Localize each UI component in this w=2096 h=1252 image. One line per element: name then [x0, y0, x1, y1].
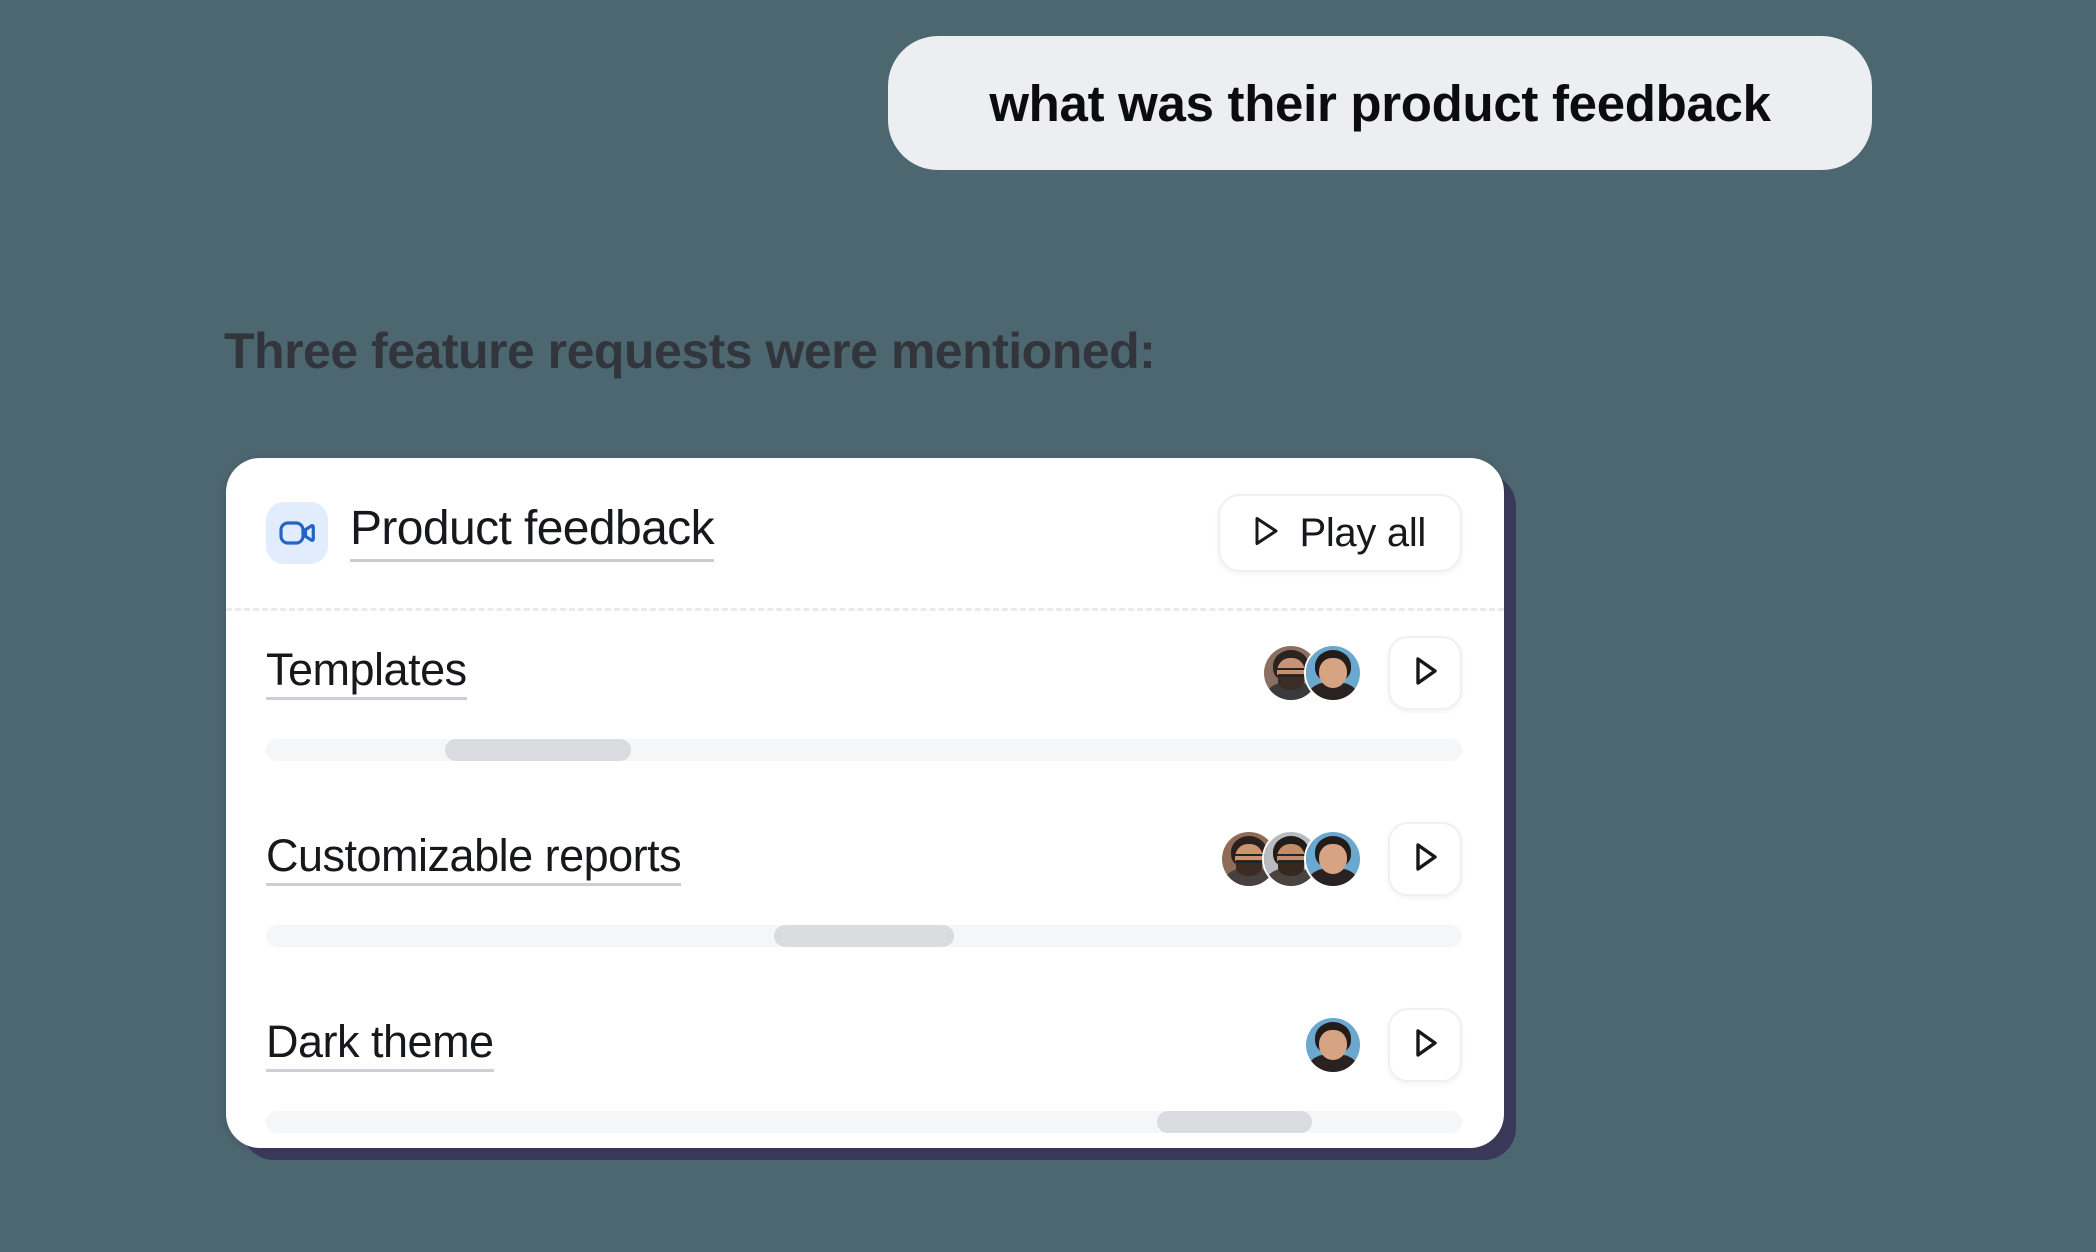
clip-timeline-segment[interactable]: [774, 925, 953, 947]
video-camera-icon: [266, 502, 328, 564]
clip-timeline-track[interactable]: [266, 925, 1462, 947]
row-play-button[interactable]: [1388, 822, 1462, 896]
feature-rows-list: TemplatesCustomizable reportsDark theme: [226, 611, 1504, 1148]
user-message-bubble: what was their product feedback: [888, 36, 1872, 170]
clip-timeline-track[interactable]: [266, 1111, 1462, 1133]
avatar-group: [1304, 1016, 1362, 1074]
feature-row: Templates: [226, 611, 1504, 797]
play-triangle-icon: [1410, 1027, 1440, 1064]
row-spacer: [266, 761, 1462, 797]
row-spacer: [266, 947, 1462, 983]
play-all-label: Play all: [1299, 511, 1426, 556]
feature-row-title[interactable]: Templates: [266, 646, 467, 699]
feature-row-actions: [1220, 822, 1462, 896]
feature-row: Dark theme: [226, 983, 1504, 1148]
product-feedback-card: Product feedback Play all TemplatesCusto…: [226, 458, 1504, 1148]
clip-timeline-track[interactable]: [266, 739, 1462, 761]
play-triangle-icon: [1410, 841, 1440, 878]
feature-row-title[interactable]: Customizable reports: [266, 832, 681, 885]
row-play-button[interactable]: [1388, 636, 1462, 710]
avatar-woman-sky: [1304, 1016, 1362, 1074]
card-title-wrap: Product feedback: [350, 504, 714, 562]
row-play-button[interactable]: [1388, 1008, 1462, 1082]
feature-row-actions: [1304, 1008, 1462, 1082]
card-title: Product feedback: [350, 504, 714, 562]
feature-row-title[interactable]: Dark theme: [266, 1018, 494, 1071]
feature-row-main: Templates: [266, 611, 1462, 735]
avatar-woman-sky: [1304, 644, 1362, 702]
feature-row-actions: [1262, 636, 1462, 710]
feature-row: Customizable reports: [226, 797, 1504, 983]
card-header: Product feedback Play all: [226, 458, 1504, 608]
play-all-button[interactable]: Play all: [1218, 494, 1462, 572]
play-triangle-icon: [1250, 514, 1282, 553]
answer-heading: Three feature requests were mentioned:: [224, 322, 1155, 380]
avatar-group: [1220, 830, 1362, 888]
clip-timeline-segment[interactable]: [1157, 1111, 1312, 1133]
feature-row-main: Dark theme: [266, 983, 1462, 1107]
clip-timeline-segment[interactable]: [445, 739, 630, 761]
row-spacer: [266, 1133, 1462, 1148]
avatar-group: [1262, 644, 1362, 702]
avatar-woman-sky: [1304, 830, 1362, 888]
user-message-text: what was their product feedback: [989, 74, 1770, 133]
play-triangle-icon: [1410, 655, 1440, 692]
feature-row-main: Customizable reports: [266, 797, 1462, 921]
